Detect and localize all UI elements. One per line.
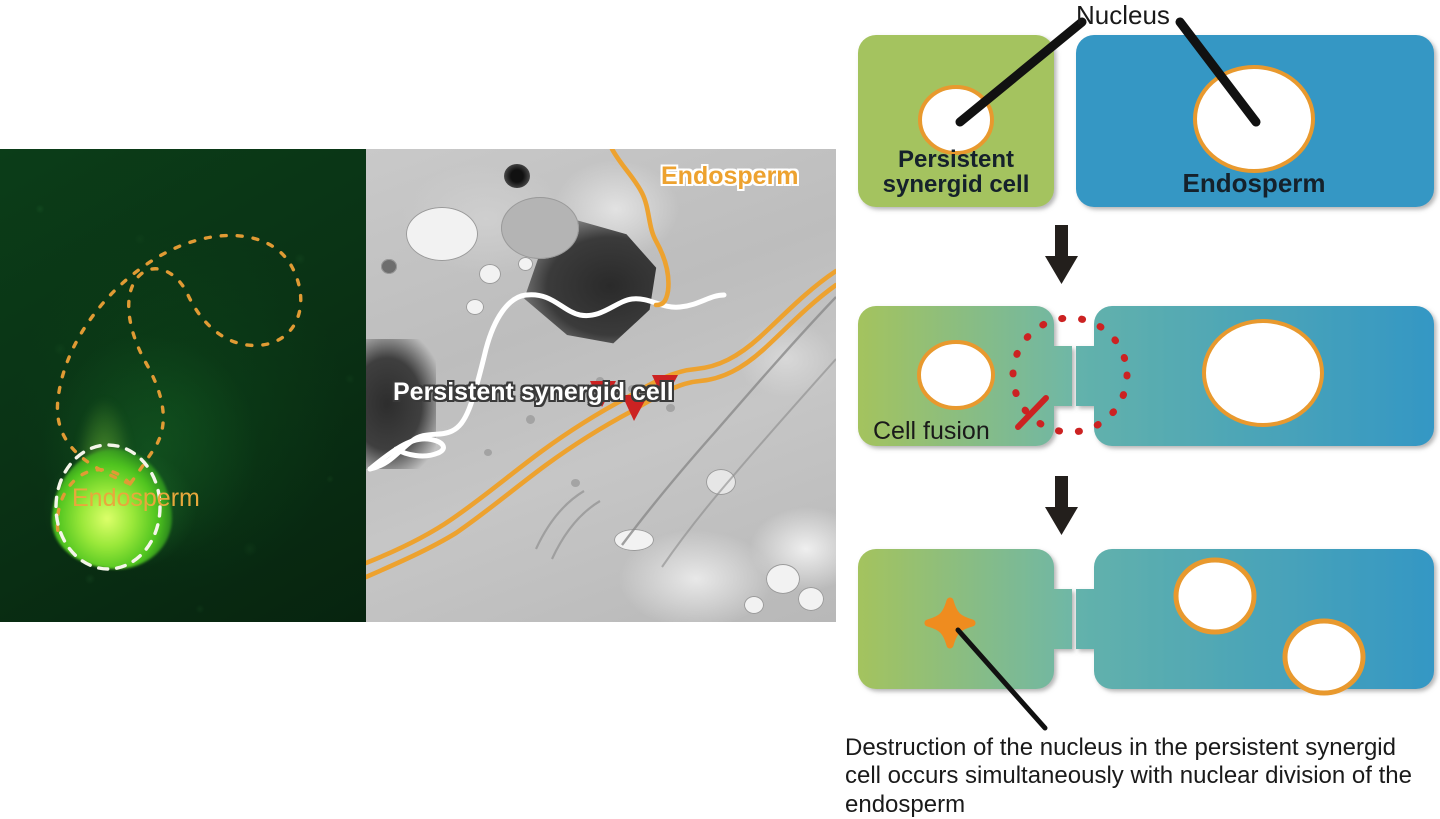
stage2-endosperm-nucleus[interactable] bbox=[1204, 321, 1322, 425]
stage3-blue-cell[interactable] bbox=[1076, 549, 1434, 689]
tem-membrane bbox=[622, 297, 836, 545]
figure-stage: Endosperm Persistent synergid cell bbox=[0, 0, 1440, 814]
nucleus-annotation-label: Nucleus bbox=[1076, 0, 1170, 31]
stage3-endosperm-nucleus-2[interactable] bbox=[1285, 621, 1363, 693]
stage1-to-stage2-arrow bbox=[1045, 225, 1078, 284]
stage1-green-cell-label: Persistent synergid cell bbox=[858, 147, 1054, 198]
stage3-endosperm-nucleus-1[interactable] bbox=[1176, 560, 1254, 632]
tem-micrograph: Endosperm Persistent synergid cell bbox=[366, 149, 836, 622]
stage2-to-stage3-arrow bbox=[1045, 476, 1078, 535]
stage1-blue-cell-label: Endosperm bbox=[1075, 170, 1433, 198]
stage2-synergid-nucleus[interactable] bbox=[919, 342, 993, 408]
cell-fusion-label: Cell fusion bbox=[873, 417, 990, 446]
fusion-schematic-svg bbox=[840, 0, 1440, 814]
tem-membrane bbox=[552, 501, 600, 559]
destruction-caption: Destruction of the nucleus in the persis… bbox=[845, 734, 1435, 819]
tem-endosperm-label: Endosperm bbox=[661, 162, 799, 191]
fluorescence-overlays bbox=[0, 149, 366, 622]
stage3-group bbox=[858, 549, 1434, 728]
tem-synergid-label: Persistent synergid cell bbox=[393, 380, 674, 406]
fluorescence-endosperm-label: Endosperm bbox=[72, 484, 200, 513]
fluorescence-micrograph: Endosperm Persistent synergid cell bbox=[0, 149, 366, 622]
